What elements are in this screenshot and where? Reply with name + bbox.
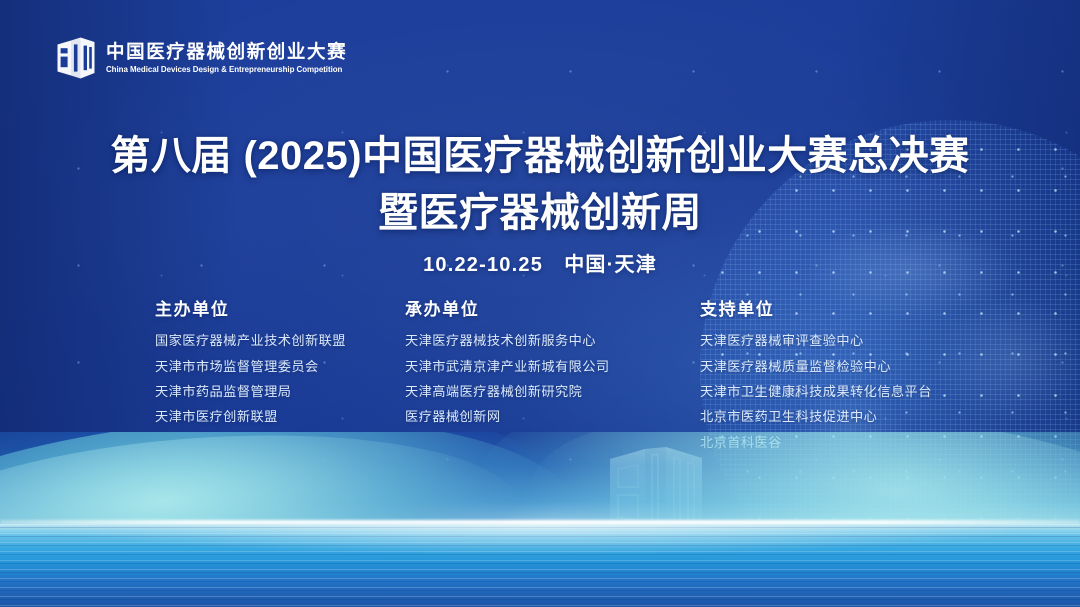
logo-chinese-name: 中国医疗器械创新创业大赛 <box>106 42 350 62</box>
title-line-2: 暨医疗器械创新周 <box>0 185 1080 242</box>
organizer-column-host: 主办单位 国家医疗器械产业技术创新联盟 天津市市场监督管理委员会 天津市药品监督… <box>155 300 346 430</box>
organizer-item: 医疗器械创新网 <box>405 404 610 429</box>
title-line-1: 第八届 (2025)中国医疗器械创新创业大赛总决赛 <box>0 128 1080 185</box>
open-gateway-logo-icon <box>56 36 96 80</box>
logo-text-block: 中国医疗器械创新创业大赛 China Medical Devices Desig… <box>106 42 350 73</box>
organizer-item: 天津高端医疗器械创新研究院 <box>405 379 610 404</box>
page-title: 第八届 (2025)中国医疗器械创新创业大赛总决赛 暨医疗器械创新周 <box>0 128 1080 242</box>
organizer-item: 天津医疗器械质量监督检验中心 <box>700 354 932 379</box>
organizer-item: 天津市卫生健康科技成果转化信息平台 <box>700 379 932 404</box>
organizer-item: 天津医疗器械审评查验中心 <box>700 328 932 353</box>
organizer-item: 天津市药品监督管理局 <box>155 379 346 404</box>
organizer-item: 天津市医疗创新联盟 <box>155 404 346 429</box>
organizer-item: 北京市医药卫生科技促进中心 <box>700 404 932 429</box>
organizer-item: 天津医疗器械技术创新服务中心 <box>405 328 610 353</box>
organizer-item: 天津市武清京津产业新城有限公司 <box>405 354 610 379</box>
bottom-scenery <box>0 432 1080 607</box>
organizer-heading: 主办单位 <box>155 300 346 320</box>
competition-logo: 中国医疗器械创新创业大赛 China Medical Devices Desig… <box>56 36 350 80</box>
water-sheen <box>0 524 1080 564</box>
organizer-item: 国家医疗器械产业技术创新联盟 <box>155 328 346 353</box>
event-date-location: 10.22-10.25 中国·天津 <box>0 248 1080 277</box>
event-poster: 中国医疗器械创新创业大赛 China Medical Devices Desig… <box>0 0 1080 607</box>
organizer-item: 天津市市场监督管理委员会 <box>155 354 346 379</box>
logo-english-name: China Medical Devices Design & Entrepren… <box>106 65 342 74</box>
organizer-columns: 主办单位 国家医疗器械产业技术创新联盟 天津市市场监督管理委员会 天津市药品监督… <box>0 300 1080 450</box>
organizer-heading: 支持单位 <box>700 300 932 320</box>
organizer-column-coorganizer: 承办单位 天津医疗器械技术创新服务中心 天津市武清京津产业新城有限公司 天津高端… <box>405 300 610 430</box>
organizer-heading: 承办单位 <box>405 300 610 320</box>
